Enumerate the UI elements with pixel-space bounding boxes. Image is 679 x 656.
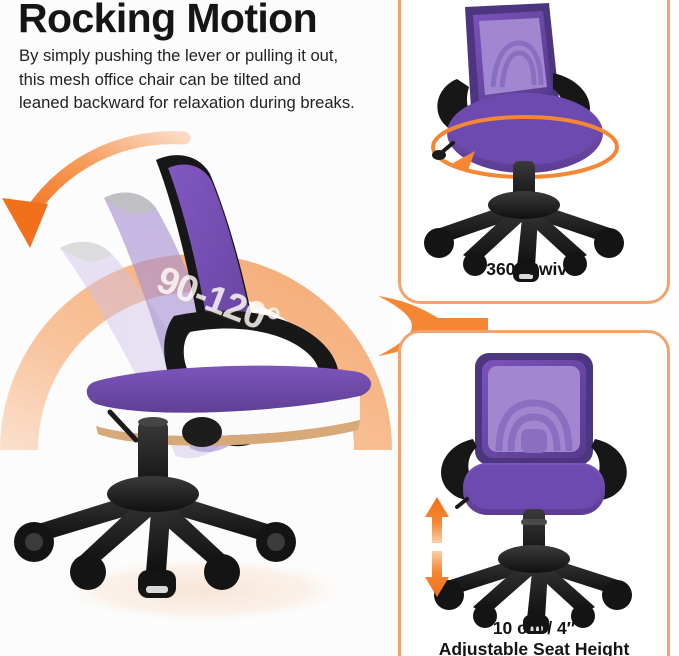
description-line-2: this mesh office chair can be tilted and <box>19 68 389 92</box>
chair-base <box>437 191 613 267</box>
office-chair-side-view <box>14 155 371 598</box>
panel-seat-height: 10 cm / 4″ Adjustable Seat Height <box>398 330 670 656</box>
swivel-caption-line-1: 360° Swivel <box>401 259 667 281</box>
swivel-caption: 360° Swivel <box>401 259 667 281</box>
page-title: Rocking Motion <box>18 0 317 42</box>
description-text: By simply pushing the lever or pulling i… <box>19 44 389 115</box>
right-feature-column: 360° Swivel <box>392 0 679 656</box>
seat-height-caption-line-1: 10 cm / 4″ <box>401 618 667 640</box>
chair-base <box>447 545 621 619</box>
seat-height-caption: 10 cm / 4″ Adjustable Seat Height <box>401 618 667 656</box>
panel-360-swivel: 360° Swivel <box>398 0 670 304</box>
rocking-illustration: 90-120° <box>0 120 392 590</box>
seat-height-caption-line-2: Adjustable Seat Height <box>401 639 667 656</box>
description-line-3: leaned backward for relaxation during br… <box>19 91 389 115</box>
left-feature-panel: Rocking Motion By simply pushing the lev… <box>0 0 392 656</box>
description-line-1: By simply pushing the lever or pulling i… <box>19 44 389 68</box>
infographic-root: Rocking Motion By simply pushing the lev… <box>0 0 679 656</box>
arrow-up-icon <box>425 497 449 543</box>
